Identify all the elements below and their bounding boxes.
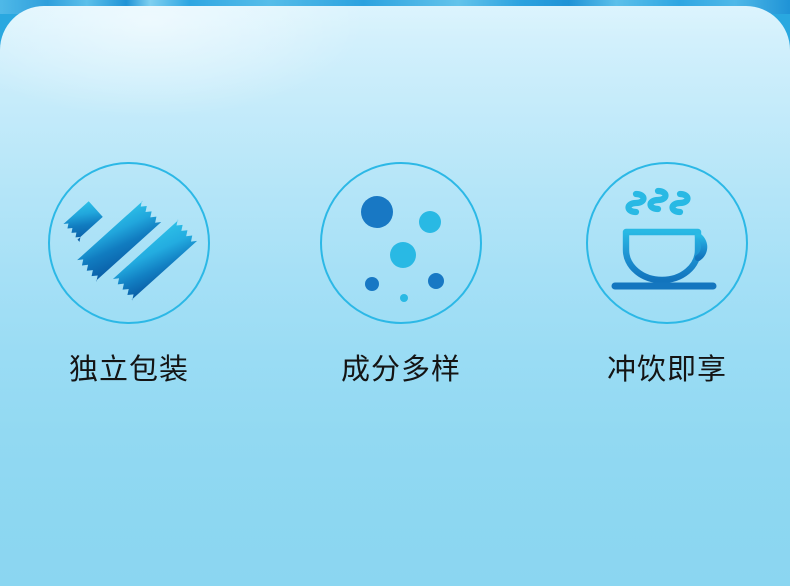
particle-dot-small-blue-left [365, 277, 379, 291]
particle-dot-medium-cyan [419, 211, 441, 233]
feature-icon-circle [48, 162, 210, 324]
feature-varied-ingredients: 成分多样 [283, 162, 519, 385]
sachet-packets-icon [67, 181, 191, 305]
feature-icon-circle [586, 162, 748, 324]
particle-dot-center-cyan [390, 242, 416, 268]
panel-gloss-highlight [0, 6, 360, 116]
feature-label-instant-drink: 冲饮即享 [607, 356, 727, 385]
particle-dot-large-blue [361, 196, 393, 228]
feature-row: 独立包装 成分多样 [0, 162, 790, 385]
particle-dot-tiny-cyan [400, 294, 408, 302]
coffee-cup-steam-icon [602, 178, 732, 308]
particles-dots-icon [326, 168, 476, 318]
steam-curls [629, 191, 688, 212]
product-feature-banner: 独立包装 成分多样 [0, 0, 790, 586]
cup-body [626, 232, 698, 280]
feature-icon-circle [320, 162, 482, 324]
particle-dot-small-blue-right [428, 273, 444, 289]
feature-instant-drink: 冲饮即享 [549, 162, 785, 385]
feature-label-varied-ingredients: 成分多样 [341, 356, 461, 385]
feature-label-independent-packaging: 独立包装 [69, 356, 189, 385]
feature-independent-packaging: 独立包装 [11, 162, 247, 385]
content-panel: 独立包装 成分多样 [0, 6, 790, 586]
